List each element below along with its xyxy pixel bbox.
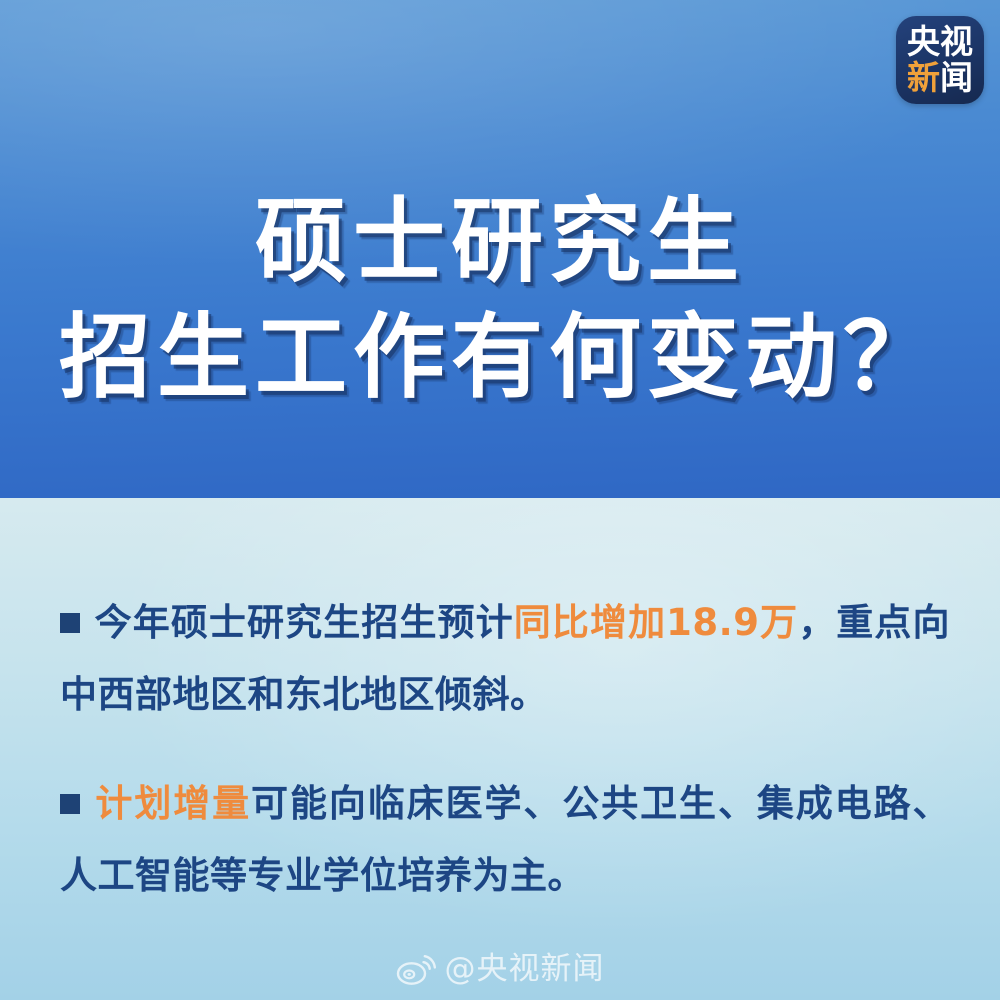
bullet-2-seg-0-highlight: 计划增量 (94, 782, 251, 825)
logo-text-wen: 闻 (940, 60, 973, 96)
bullet-1-seg-0: 今年硕士研究生招生预计 (94, 601, 514, 644)
hero-banner: 央视 新 闻 硕士研究生 招生工作有何变动？ (0, 0, 1000, 498)
weibo-watermark: @央视新闻 (0, 952, 1000, 986)
page-title: 硕士研究生 招生工作有何变动？ (0, 196, 1000, 404)
bullet-square-icon (60, 613, 80, 633)
title-line-2: 招生工作有何变动？ (0, 312, 1000, 404)
bullet-list: 今年硕士研究生招生预计同比增加18.9万，重点向中西部地区和东北地区倾斜。 计划… (60, 550, 950, 949)
bullet-square-icon (60, 794, 80, 814)
poster-canvas: 央视 新 闻 硕士研究生 招生工作有何变动？ 今年硕士研究生招生预计同比增加18… (0, 0, 1000, 1000)
body-panel: 今年硕士研究生招生预计同比增加18.9万，重点向中西部地区和东北地区倾斜。 计划… (0, 498, 1000, 1000)
weibo-icon (396, 952, 436, 986)
logo-line-bottom: 新 闻 (907, 60, 973, 96)
logo-line-top: 央视 (907, 24, 973, 60)
logo-text-yangshi: 央视 (907, 24, 973, 60)
bullet-1-seg-1-highlight: 同比增加18.9万 (514, 601, 798, 644)
list-item: 计划增量可能向临床医学、公共卫生、集成电路、人工智能等专业学位培养为主。 (60, 768, 950, 912)
title-line-1: 硕士研究生 (0, 196, 1000, 288)
logo-text-xin: 新 (907, 60, 940, 96)
list-item: 今年硕士研究生招生预计同比增加18.9万，重点向中西部地区和东北地区倾斜。 (60, 587, 950, 731)
cctv-news-logo: 央视 新 闻 (896, 16, 984, 104)
weibo-handle: @央视新闻 (445, 954, 605, 985)
